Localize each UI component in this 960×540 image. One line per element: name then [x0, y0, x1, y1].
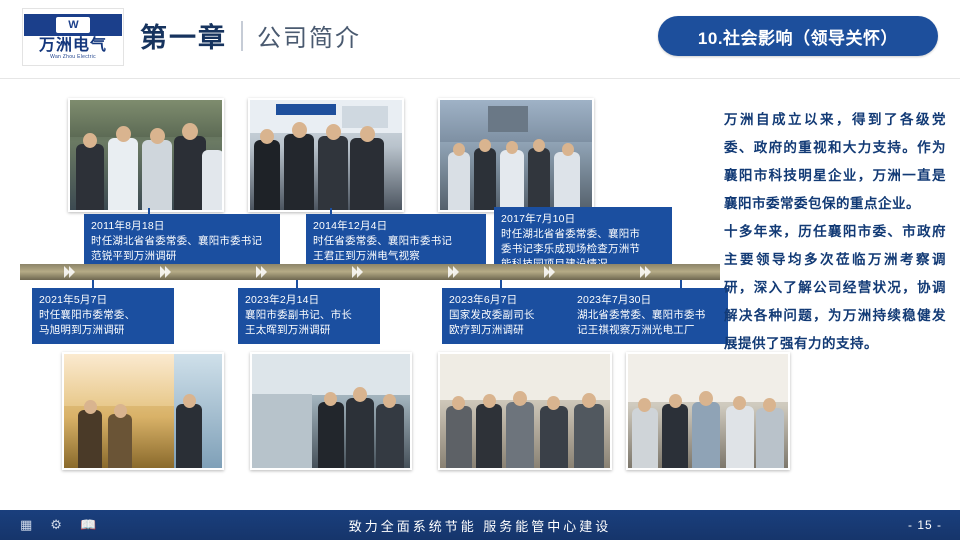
- timeline-chevron-icon: [640, 266, 649, 278]
- photo-2011: [68, 98, 224, 212]
- caption-date: 2021年5月7日: [39, 293, 167, 308]
- caption-date: 2014年12月4日: [313, 219, 479, 234]
- caption-line1: 国家发改委副司长: [449, 308, 577, 323]
- caption-line2: 欧疗到万洲调研: [449, 323, 577, 338]
- caption-line1: 时任湖北省省委常委、襄阳市委书记: [91, 234, 273, 249]
- caption-2014: 2014年12月4日 时任省委常委、襄阳市委书记 王君正到万洲电气视察: [306, 214, 486, 270]
- caption-date: 2011年8月18日: [91, 219, 273, 234]
- logo-mark-icon: W: [56, 17, 90, 33]
- logo-chinese-name: 万洲电气: [39, 38, 107, 54]
- caption-line2: 王君正到万洲电气视察: [313, 249, 479, 264]
- caption-date: 2023年6月7日: [449, 293, 577, 308]
- caption-line2: 王太晖到万洲调研: [245, 323, 373, 338]
- logo-english-name: Wan Zhou Electric: [50, 55, 96, 60]
- caption-line2: 记王祺视察万洲光电工厂: [577, 323, 721, 338]
- timeline-chevron-icon: [352, 266, 361, 278]
- caption-line1: 时任省委常委、襄阳市委书记: [313, 234, 479, 249]
- photo-2023-06: [438, 352, 612, 470]
- footer-bar: ▦ ⚙ 📖 致力全面系统节能 服务能管中心建设 - 15 -: [0, 510, 960, 540]
- body-paragraph-2: 十多年来，历任襄阳市委、市政府主要领导均多次莅临万洲考察调研，深入了解公司经营状…: [724, 218, 946, 358]
- caption-line2: 范锐平到万洲调研: [91, 249, 273, 264]
- slide-root: W 万洲电气 Wan Zhou Electric 第一章 公司简介 10.社会影…: [0, 0, 960, 540]
- timeline-chevron-icon: [160, 266, 169, 278]
- chapter-heading: 第一章 公司简介: [140, 16, 361, 55]
- caption-2023-06: 2023年6月7日 国家发改委副司长 欧疗到万洲调研: [442, 288, 584, 344]
- caption-line2: 马旭明到万洲调研: [39, 323, 167, 338]
- caption-date: 2017年7月10日: [501, 212, 665, 227]
- caption-line1: 时任襄阳市委常委、: [39, 308, 167, 323]
- page-number: - 15 -: [908, 518, 942, 532]
- caption-date: 2023年7月30日: [577, 293, 721, 308]
- caption-2021: 2021年5月7日 时任襄阳市委常委、 马旭明到万洲调研: [32, 288, 174, 344]
- caption-2023-02: 2023年2月14日 襄阳市委副书记、市长 王太晖到万洲调研: [238, 288, 380, 344]
- caption-line1: 襄阳市委副书记、市长: [245, 308, 373, 323]
- body-text: 万洲自成立以来，得到了各级党委、政府的重视和大力支持。作为襄阳市科技明星企业，万…: [724, 106, 946, 358]
- caption-line2: 委书记李乐成现场检查万洲节: [501, 242, 665, 257]
- chapter-number: 第一章: [140, 16, 227, 55]
- chapter-subtitle: 公司简介: [257, 18, 361, 53]
- caption-line1: 湖北省委常委、襄阳市委书: [577, 308, 721, 323]
- timeline-chevron-icon: [544, 266, 553, 278]
- chapter-divider: [241, 21, 243, 51]
- timeline-chevron-icon: [448, 266, 457, 278]
- caption-line1: 时任湖北省省委常委、襄阳市: [501, 227, 665, 242]
- photo-2017: [438, 98, 594, 212]
- company-logo: W 万洲电气 Wan Zhou Electric: [22, 8, 124, 66]
- photo-2023-07: [626, 352, 790, 470]
- body-paragraph-1: 万洲自成立以来，得到了各级党委、政府的重视和大力支持。作为襄阳市科技明星企业，万…: [724, 106, 946, 218]
- footer-slogan: 致力全面系统节能 服务能管中心建设: [0, 516, 960, 535]
- timeline-chevron-icon: [256, 266, 265, 278]
- photo-2014: [248, 98, 404, 212]
- caption-2011: 2011年8月18日 时任湖北省省委常委、襄阳市委书记 范锐平到万洲调研: [84, 214, 280, 270]
- timeline-chevron-icon: [64, 266, 73, 278]
- section-title-badge: 10.社会影响（领导关怀）: [658, 16, 938, 56]
- caption-2023-07: 2023年7月30日 湖北省委常委、襄阳市委书 记王祺视察万洲光电工厂: [570, 288, 728, 344]
- timeline-band: [20, 264, 720, 280]
- logo-banner: W: [24, 14, 122, 36]
- photo-2021: [62, 352, 224, 470]
- header-divider: [0, 78, 960, 79]
- photo-2023-02: [250, 352, 412, 470]
- caption-date: 2023年2月14日: [245, 293, 373, 308]
